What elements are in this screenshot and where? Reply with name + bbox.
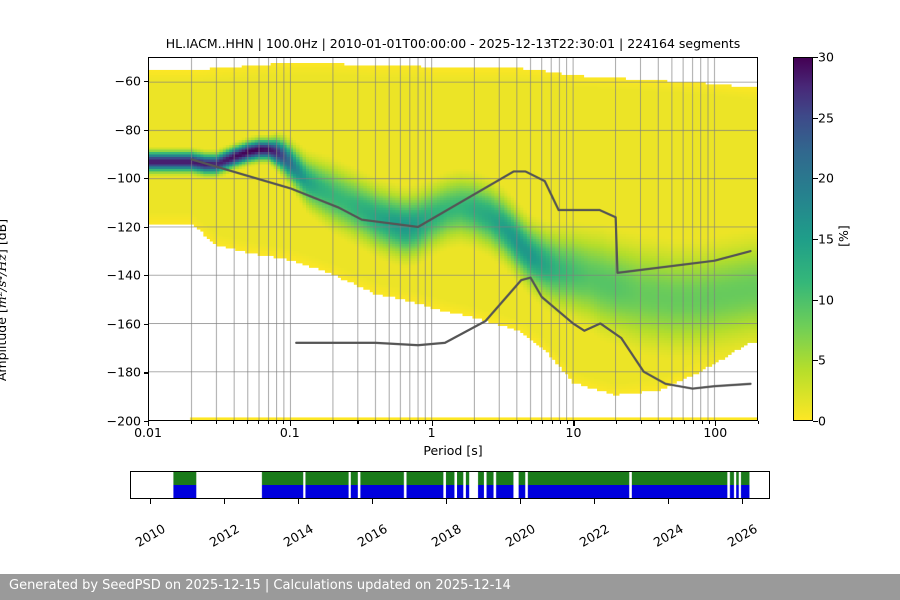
- x-tick-mark-minor: [567, 421, 568, 424]
- x-axis-label: Period [s]: [148, 443, 758, 458]
- y-tick-label: −80: [71, 122, 141, 137]
- x-tick-mark-minor: [283, 421, 284, 424]
- x-tick-mark: [148, 421, 149, 426]
- timeline-tick-label: 2024: [651, 521, 686, 550]
- y-tick-label: −60: [71, 74, 141, 89]
- x-tick-mark-minor: [702, 421, 703, 424]
- x-tick-mark-minor: [247, 421, 248, 424]
- colorbar-tick-mark: [813, 178, 818, 179]
- y-axis-label-units: m²/s⁴/Hz: [0, 254, 9, 308]
- timeline-tick-mark: [668, 499, 669, 504]
- timeline-tick-mark: [446, 499, 447, 504]
- psd-heatmap: [149, 58, 757, 420]
- colorbar-tick-mark: [813, 360, 818, 361]
- x-tick-label: 10: [533, 425, 613, 440]
- x-tick-mark: [715, 421, 716, 426]
- coverage-bars: [131, 472, 769, 498]
- x-tick-mark-minor: [499, 421, 500, 424]
- timeline-tick-mark: [150, 499, 151, 504]
- timeline-tick-mark: [520, 499, 521, 504]
- colorbar-tick-mark: [813, 118, 818, 119]
- x-tick-mark-minor: [709, 421, 710, 424]
- colorbar-tick-label: 25: [818, 110, 834, 125]
- timeline-tick-mark: [742, 499, 743, 504]
- x-tick-mark: [290, 421, 291, 426]
- x-tick-mark-minor: [333, 421, 334, 424]
- x-tick-mark-minor: [693, 421, 694, 424]
- timeline-tick-label: 2022: [577, 521, 612, 550]
- colorbar-tick-label: 30: [818, 50, 834, 65]
- x-tick-mark-minor: [673, 421, 674, 424]
- y-axis-label-post: ] [dB]: [0, 219, 9, 254]
- psd-figure: HL.IACM..HHN | 100.0Hz | 2010-01-01T00:0…: [0, 0, 900, 600]
- y-tick-label: −160: [71, 316, 141, 331]
- x-tick-mark-minor: [389, 421, 390, 424]
- timeline-tick-mark: [594, 499, 595, 504]
- timeline-tick-label: 2020: [503, 521, 538, 550]
- x-tick-mark-minor: [400, 421, 401, 424]
- x-tick-mark-minor: [659, 421, 660, 424]
- x-tick-mark-minor: [474, 421, 475, 424]
- y-tick-mark: [144, 227, 149, 228]
- psd-plot-area[interactable]: [148, 57, 758, 421]
- timeline-tick-label: 2026: [725, 521, 760, 550]
- colorbar-tick-label: 20: [818, 171, 834, 186]
- x-tick-mark-minor: [268, 421, 269, 424]
- timeline-tick-label: 2018: [429, 521, 464, 550]
- y-tick-mark: [144, 178, 149, 179]
- x-tick-mark-minor: [616, 421, 617, 424]
- colorbar: [793, 57, 813, 421]
- timeline-tick-mark: [372, 499, 373, 504]
- x-tick-mark-minor: [542, 421, 543, 424]
- y-tick-mark: [144, 81, 149, 82]
- x-tick-mark-minor: [258, 421, 259, 424]
- y-tick-label: −100: [71, 171, 141, 186]
- footer-text: Generated by SeedPSD on 2025-12-15 | Cal…: [9, 578, 511, 593]
- colorbar-tick-label: 15: [818, 232, 834, 247]
- x-tick-mark-minor: [410, 421, 411, 424]
- x-tick-mark-minor: [684, 421, 685, 424]
- timeline-tick-mark: [298, 499, 299, 504]
- x-tick-mark-minor: [531, 421, 532, 424]
- colorbar-tick-label: 5: [818, 353, 826, 368]
- x-tick-mark-minor: [276, 421, 277, 424]
- data-coverage-timeline[interactable]: [130, 471, 770, 499]
- y-axis-label: Amplitude [m²/s⁴/Hz] [dB]: [0, 150, 9, 450]
- timeline-tick-label: 2010: [133, 521, 168, 550]
- timeline-tick-label: 2012: [207, 521, 242, 550]
- colorbar-tick-mark: [813, 300, 818, 301]
- x-tick-mark: [432, 421, 433, 426]
- x-tick-mark-minor: [517, 421, 518, 424]
- colorbar-tick-mark: [813, 57, 818, 58]
- x-tick-mark-minor: [375, 421, 376, 424]
- x-tick-mark-minor: [418, 421, 419, 424]
- timeline-tick-label: 2016: [355, 521, 390, 550]
- y-tick-label: −180: [71, 365, 141, 380]
- x-tick-mark-minor: [216, 421, 217, 424]
- x-tick-mark-minor: [758, 421, 759, 424]
- x-tick-label: 0.1: [250, 425, 330, 440]
- colorbar-tick-label: 10: [818, 292, 834, 307]
- y-tick-label: −140: [71, 268, 141, 283]
- x-tick-mark-minor: [357, 421, 358, 424]
- colorbar-label: [%]: [836, 206, 851, 266]
- colorbar-tick-label: 0: [818, 414, 826, 429]
- y-tick-mark: [144, 275, 149, 276]
- x-tick-mark-minor: [552, 421, 553, 424]
- y-tick-mark: [144, 324, 149, 325]
- x-tick-mark-minor: [641, 421, 642, 424]
- timeline-tick-mark: [224, 499, 225, 504]
- x-tick-label: 0.01: [108, 425, 188, 440]
- x-tick-mark-minor: [233, 421, 234, 424]
- colorbar-tick-mark: [813, 421, 818, 422]
- x-tick-mark-minor: [191, 421, 192, 424]
- timeline-tick-label: 2014: [281, 521, 316, 550]
- x-tick-mark-minor: [560, 421, 561, 424]
- x-tick-label: 1: [392, 425, 472, 440]
- x-tick-label: 100: [675, 425, 755, 440]
- x-tick-mark-minor: [425, 421, 426, 424]
- x-tick-mark: [573, 421, 574, 426]
- y-tick-mark: [144, 130, 149, 131]
- y-tick-label: −120: [71, 219, 141, 234]
- y-tick-mark: [144, 372, 149, 373]
- page-title: HL.IACM..HHN | 100.0Hz | 2010-01-01T00:0…: [148, 36, 758, 51]
- y-axis-label-pre: Amplitude [: [0, 308, 9, 381]
- colorbar-tick-mark: [813, 239, 818, 240]
